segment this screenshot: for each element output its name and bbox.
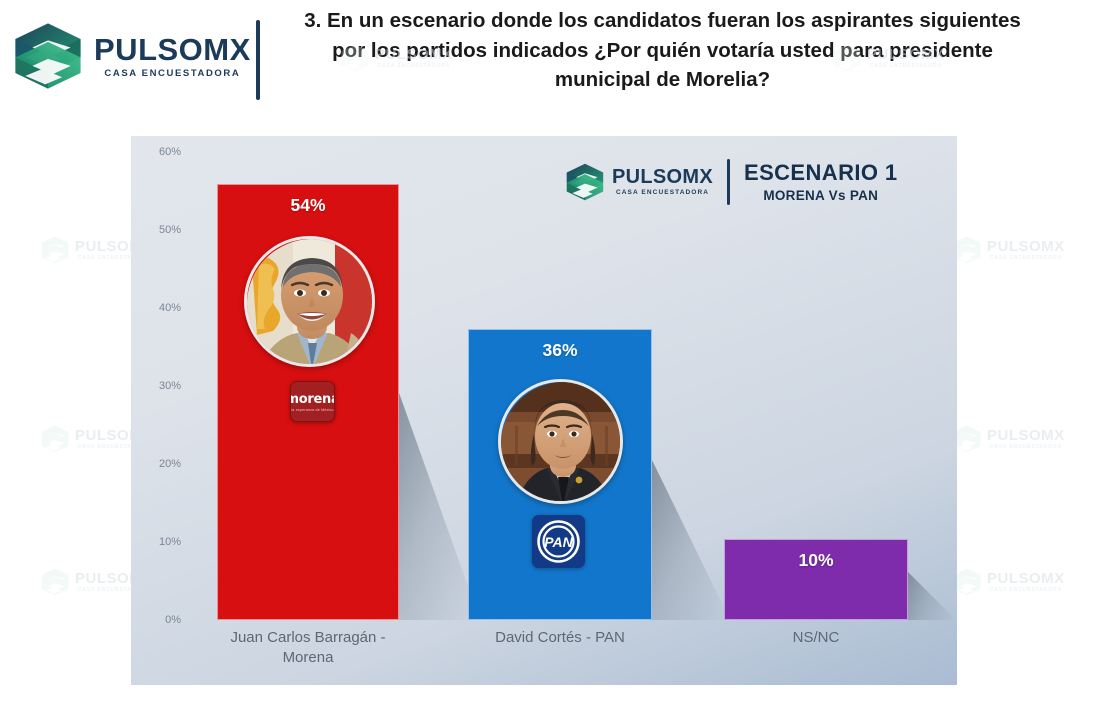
x-label-juan-carlos-barragan: Juan Carlos Barragán - Morena xyxy=(217,628,399,669)
watermark-text: PULSOMX CASA ENCUESTADORA xyxy=(987,239,1065,261)
watermark-name: PULSOMX xyxy=(987,428,1065,443)
watermark-logo-icon xyxy=(40,236,70,264)
watermark-sub: CASA ENCUESTADORA xyxy=(987,445,1065,450)
pulsomx-logo-icon xyxy=(12,22,84,90)
bar-value-morena: 54% xyxy=(218,195,398,216)
brand-logo: PULSOMX CASA ENCUESTADORA xyxy=(12,22,251,90)
watermark-right-3: PULSOMX CASA ENCUESTADORA xyxy=(952,568,1065,596)
bar-value-pan: 36% xyxy=(469,340,651,361)
bar-value-nsnc: 10% xyxy=(725,550,907,571)
watermark-logo-icon xyxy=(40,425,70,453)
party-badge-pan: PAN xyxy=(532,515,585,568)
party-badge-morena-tagline: la esperanza de México xyxy=(291,408,333,412)
watermark-right-2: PULSOMX CASA ENCUESTADORA xyxy=(952,425,1065,453)
watermark-name: PULSOMX xyxy=(987,571,1065,586)
x-label-nsnc: NS/NC xyxy=(724,628,908,648)
bar-nsnc[interactable]: 10% xyxy=(724,539,908,620)
page-header: PULSOMX CASA ENCUESTADORA 3. En un escen… xyxy=(0,0,1095,120)
candidate-photo-david-cortes xyxy=(498,379,623,504)
photo-illustration xyxy=(501,382,623,504)
bar-shadow-nsnc xyxy=(908,572,956,620)
brand-text: PULSOMX CASA ENCUESTADORA xyxy=(94,34,251,79)
plot-area: 54% xyxy=(131,136,957,620)
watermark-sub: CASA ENCUESTADORA xyxy=(987,588,1065,593)
svg-text:PAN: PAN xyxy=(544,534,573,550)
watermark-logo-icon xyxy=(40,568,70,596)
brand-name: PULSOMX xyxy=(94,34,251,65)
chart-panel: PULSOMX CASA ENCUESTADORA ESCENARIO 1 MO… xyxy=(131,136,957,685)
bar-shadow-pan xyxy=(652,460,730,620)
header-divider xyxy=(256,20,260,100)
page-title: 3. En un escenario donde los candidatos … xyxy=(290,6,1035,95)
brand-subtitle: CASA ENCUESTADORA xyxy=(94,69,251,79)
photo-illustration xyxy=(247,239,375,367)
watermark-right-1: PULSOMX CASA ENCUESTADORA xyxy=(952,236,1065,264)
party-badge-morena-label: morena xyxy=(290,392,335,407)
watermark-text: PULSOMX CASA ENCUESTADORA xyxy=(987,428,1065,450)
pan-logo-icon: PAN xyxy=(532,515,585,568)
watermark-sub: CASA ENCUESTADORA xyxy=(987,256,1065,261)
bar-pan[interactable]: 36% xyxy=(468,329,652,620)
x-label-david-cortes: David Cortés - PAN xyxy=(468,628,652,648)
watermark-text: PULSOMX CASA ENCUESTADORA xyxy=(987,571,1065,593)
party-badge-morena: morena la esperanza de México xyxy=(290,381,335,422)
watermark-name: PULSOMX xyxy=(987,239,1065,254)
candidate-photo-juan-carlos-barragan xyxy=(244,236,375,367)
bar-morena[interactable]: 54% xyxy=(217,184,399,620)
